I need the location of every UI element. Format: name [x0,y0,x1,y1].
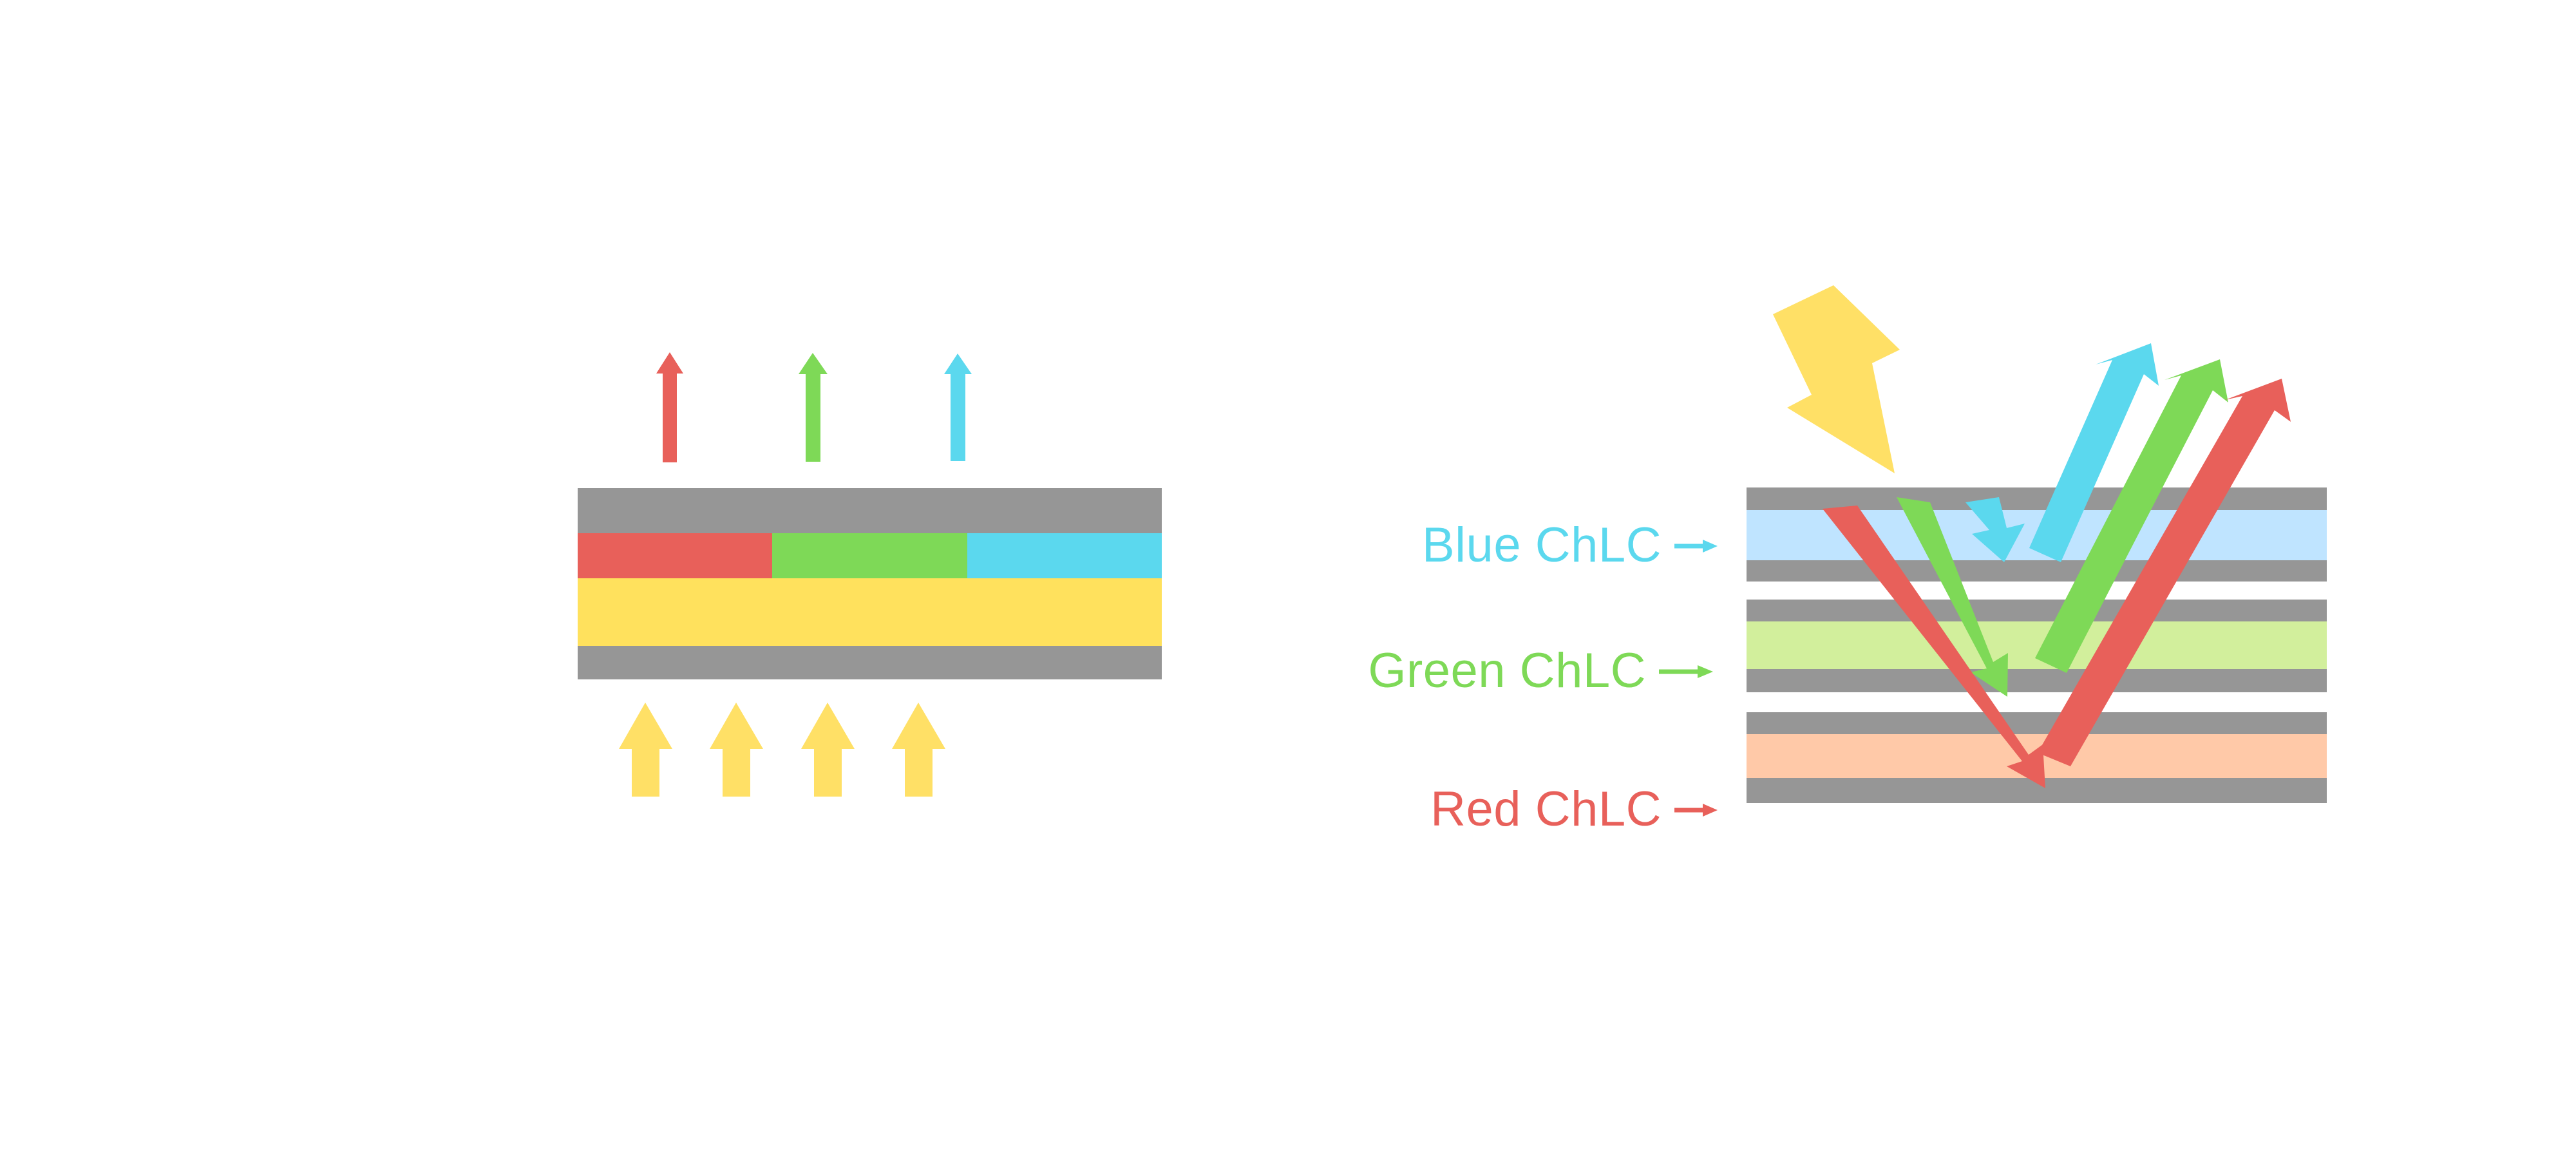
left-layer-backlight [578,578,1162,646]
left-layer-blue-filter-segment [967,533,1162,578]
left-layer-red-filter-segment [578,533,772,578]
green-emission-arrow-icon [799,353,828,462]
blue-chlc-label-arrow-icon [1674,540,1718,553]
blue-emission-arrow-icon [944,354,972,461]
green-chlc-cell [1747,600,2327,692]
blue-chlc-label-text: Blue ChLC [1422,518,1662,572]
red-chlc-label-text: Red ChLC [1430,782,1662,837]
blue-chlc-label-group: Blue ChLC [1422,518,1718,572]
figure-canvas: Blue ChLC Green ChLC Red ChLC [0,0,2576,1154]
chlc-labels: Blue ChLC Green ChLC Red ChLC [1368,518,1718,837]
backlight-arrow-icon-3 [801,703,855,797]
green-cell-bottom-substrate [1747,669,2327,692]
left-stack-layers [578,488,1162,679]
green-chlc-label-text: Green ChLC [1368,643,1646,698]
left-layer-top-electrode [578,488,1162,533]
green-cell-top-substrate [1747,600,2327,621]
backlight-arrow-icon-2 [710,703,763,797]
green-chlc-label-group: Green ChLC [1368,643,1713,698]
right-panel-group: Blue ChLC Green ChLC Red ChLC [1368,285,2327,837]
green-cell-lc-layer [1747,621,2327,669]
left-layer-bottom-electrode [578,646,1162,679]
backlight-arrow-icon-1 [619,703,672,797]
red-chlc-label-arrow-icon [1674,804,1718,817]
red-chlc-label-group: Red ChLC [1430,782,1718,837]
left-layer-green-filter-segment [772,533,967,578]
emitted-light-arrows [656,352,972,462]
green-chlc-label-arrow-icon [1659,665,1713,678]
blue-cell-top-substrate [1747,487,2327,510]
ambient-light-arrow-icon [1773,285,1900,473]
red-cell-top-substrate [1747,712,2327,734]
red-emission-arrow-icon [656,352,683,462]
backlight-arrows [619,703,945,797]
blue-cell-bottom-substrate [1747,560,2327,582]
backlight-arrow-icon-4 [892,703,945,797]
left-panel-group [578,352,1162,797]
diagram-svg: Blue ChLC Green ChLC Red ChLC [0,0,2576,1154]
